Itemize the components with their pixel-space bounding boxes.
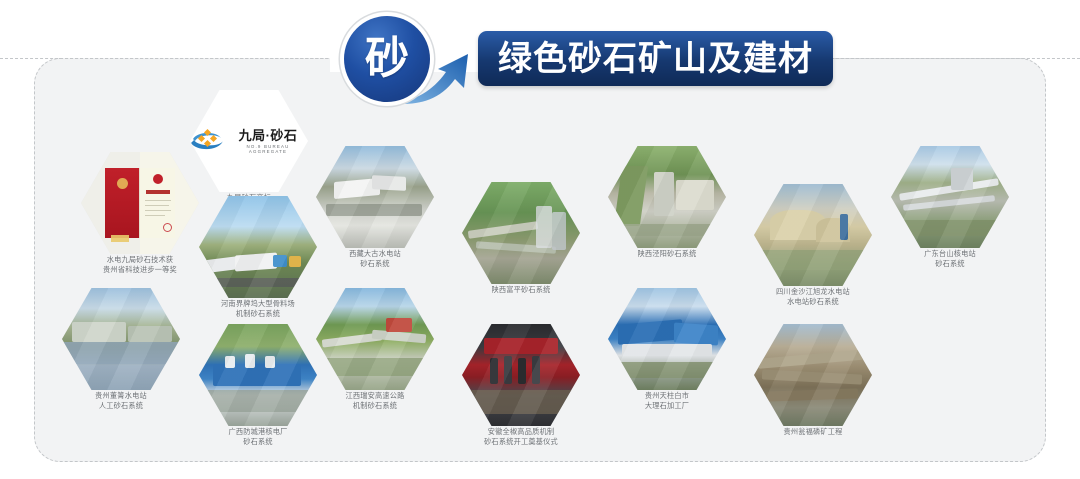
tile-caption: 广东台山核电站 砂石系统	[877, 249, 1023, 269]
tile-image	[199, 324, 317, 426]
tile-caption: 安徽全椒高品质机制 砂石系统开工奠基仪式	[448, 427, 594, 447]
tile-henan-aggregate[interactable]: 河南界牌坞大型骨料场 机制砂石系统	[199, 196, 317, 298]
certificate-photo	[81, 152, 199, 254]
tile-caption: 水电九局砂石技术获 贵州省科技进步一等奖	[67, 255, 213, 275]
tile-shaanxi-fuping[interactable]: 陕西富平砂石系统	[462, 182, 580, 284]
shaanxi-fuping-photo	[462, 182, 580, 284]
tile-caption: 陕西泾阳砂石系统	[594, 249, 740, 259]
tibet-dagu-photo	[316, 146, 434, 248]
tile-guizhou-tianzhu[interactable]: 贵州天柱白市 大理石加工厂	[608, 288, 726, 390]
tile-caption: 广西防城港核电厂 砂石系统	[185, 427, 331, 447]
tile-image	[891, 146, 1009, 248]
jiangxi-ruian-photo	[316, 288, 434, 390]
tile-guangxi-fangcheng[interactable]: 广西防城港核电厂 砂石系统	[199, 324, 317, 426]
tile-guizhou-phosphate[interactable]: 贵州瓮福磷矿工程	[754, 324, 872, 426]
sand-badge-circle: 砂	[344, 16, 430, 102]
sand-badge-char: 砂	[365, 37, 409, 81]
tile-sichuan-xulong[interactable]: 四川金沙江旭龙水电站 水电站砂石系统	[754, 184, 872, 286]
tile-image	[462, 182, 580, 284]
tile-image	[316, 288, 434, 390]
tile-caption: 四川金沙江旭龙水电站 水电站砂石系统	[740, 287, 886, 307]
guizhou-dongqing-photo	[62, 288, 180, 390]
tile-caption: 贵州瓮福磷矿工程	[740, 427, 886, 437]
brand-logo: 九局·砂石 NO.9 BUREAU AGGREGATE	[190, 90, 308, 192]
aggregate-plant-photo	[199, 196, 317, 298]
tile-image	[754, 184, 872, 286]
tile-guangdong-taishan[interactable]: 广东台山核电站 砂石系统	[891, 146, 1009, 248]
page-title: 绿色砂石矿山及建材	[498, 42, 813, 76]
tile-image: 九局·砂石 NO.9 BUREAU AGGREGATE	[190, 90, 308, 192]
tile-guizhou-dongqing[interactable]: 贵州董箐水电站 人工砂石系统	[62, 288, 180, 390]
tile-caption: 江西瑞安高速公路 机制砂石系统	[302, 391, 448, 411]
tile-image	[199, 196, 317, 298]
logo-name-cn: 九局·砂石	[239, 129, 298, 142]
tile-tibet-dagu[interactable]: 西藏大古水电站 砂石系统	[316, 146, 434, 248]
tile-jiangxi-ruian[interactable]: 江西瑞安高速公路 机制砂石系统	[316, 288, 434, 390]
tile-caption: 陕西富平砂石系统	[448, 285, 594, 295]
tile-image	[462, 324, 580, 426]
anhui-ceremony-photo	[462, 324, 580, 426]
poster-root: 砂 绿色砂石矿山及建材	[0, 0, 1080, 479]
tile-image	[608, 288, 726, 390]
shaanxi-jingyang-photo	[608, 146, 726, 248]
nine-bureau-logo-icon	[190, 128, 224, 154]
tile-logo[interactable]: 九局·砂石 NO.9 BUREAU AGGREGATE 九局砂石商标	[190, 90, 308, 192]
tile-anhui-ceremony[interactable]: 安徽全椒高品质机制 砂石系统开工奠基仪式	[462, 324, 580, 426]
tile-image	[608, 146, 726, 248]
tile-caption: 贵州天柱白市 大理石加工厂	[594, 391, 740, 411]
guangdong-taishan-photo	[891, 146, 1009, 248]
tile-shaanxi-jingyang[interactable]: 陕西泾阳砂石系统	[608, 146, 726, 248]
logo-name-en: NO.9 BUREAU AGGREGATE	[228, 144, 308, 154]
tile-image	[81, 152, 199, 254]
tile-caption: 贵州董箐水电站 人工砂石系统	[48, 391, 194, 411]
guangxi-fangcheng-photo	[199, 324, 317, 426]
poster-title-plate: 绿色砂石矿山及建材	[478, 31, 833, 86]
tile-caption: 河南界牌坞大型骨料场 机制砂石系统	[185, 299, 331, 319]
tile-image	[316, 146, 434, 248]
tile-cert-award[interactable]: 水电九局砂石技术获 贵州省科技进步一等奖	[81, 152, 199, 254]
guizhou-phosphate-photo	[754, 324, 872, 426]
tile-image	[62, 288, 180, 390]
sichuan-xulong-photo	[754, 184, 872, 286]
guizhou-tianzhu-photo	[608, 288, 726, 390]
tile-image	[754, 324, 872, 426]
tile-caption: 西藏大古水电站 砂石系统	[302, 249, 448, 269]
